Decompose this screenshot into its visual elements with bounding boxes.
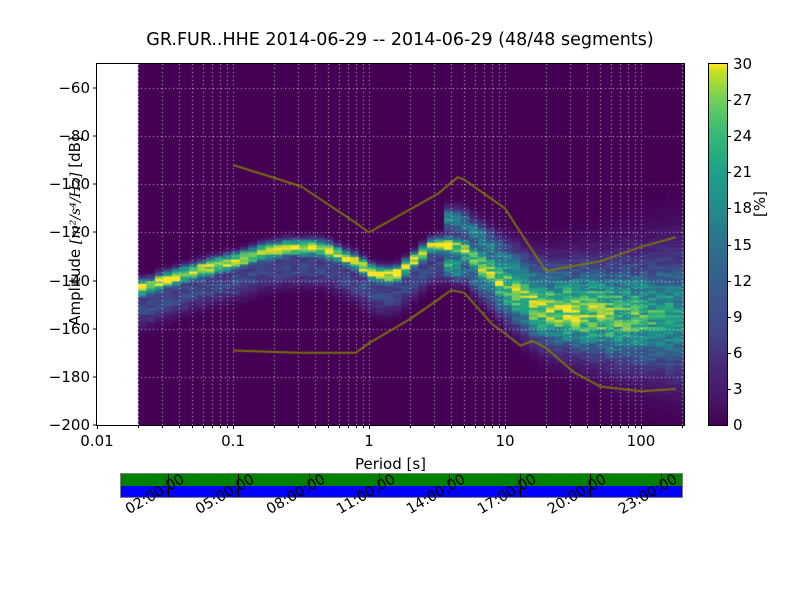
y-tick-label: −140: [49, 272, 90, 290]
y-tick-mark: [93, 88, 97, 89]
x-minor-tick-mark: [464, 425, 465, 428]
colorbar-tick-label: 6: [733, 344, 743, 362]
colorbar-tick-label: 27: [733, 91, 752, 109]
colorbar-tick-label: 0: [733, 416, 743, 434]
colorbar-tick-label: 9: [733, 308, 743, 326]
y-tick-mark: [93, 376, 97, 377]
x-minor-tick-mark: [220, 425, 221, 428]
y-tick-mark: [93, 280, 97, 281]
y-tick-mark: [93, 328, 97, 329]
x-minor-tick-mark: [475, 425, 476, 428]
colorbar-tick-mark: [727, 281, 731, 282]
x-minor-tick-mark: [328, 425, 329, 428]
page-title: GR.FUR..HHE 2014-06-29 -- 2014-06-29 (48…: [0, 30, 800, 50]
x-minor-tick-mark: [546, 425, 547, 428]
x-minor-tick-mark: [587, 425, 588, 428]
x-minor-tick-mark: [227, 425, 228, 428]
x-minor-tick-mark: [570, 425, 571, 428]
colorbar-tick-mark: [727, 100, 731, 101]
title-text: GR.FUR..HHE 2014-06-29 -- 2014-06-29 (48…: [146, 30, 653, 50]
colorbar-tick-mark: [727, 245, 731, 246]
x-minor-tick-mark: [162, 425, 163, 428]
x-minor-tick-mark: [203, 425, 204, 428]
x-minor-tick-mark: [682, 425, 683, 428]
x-minor-tick-mark: [499, 425, 500, 428]
x-minor-tick-mark: [274, 425, 275, 428]
x-tick-label: 10: [495, 432, 514, 450]
x-minor-tick-mark: [348, 425, 349, 428]
colorbar-tick-label: 3: [733, 380, 743, 398]
x-minor-tick-mark: [356, 425, 357, 428]
y-tick-mark: [93, 232, 97, 233]
x-minor-tick-mark: [492, 425, 493, 428]
y-tick-label: −120: [49, 223, 90, 241]
colorbar-tick-label: 15: [733, 236, 752, 254]
y-tick-mark: [93, 184, 97, 185]
x-tick-label: 1: [364, 432, 374, 450]
x-minor-tick-mark: [635, 425, 636, 428]
colorbar-tick-mark: [727, 389, 731, 390]
colorbar-tick-label: 24: [733, 127, 752, 145]
x-minor-tick-mark: [434, 425, 435, 428]
y-tick-label: −100: [49, 175, 90, 193]
x-tick-mark: [369, 425, 370, 429]
x-minor-tick-mark: [212, 425, 213, 428]
x-tick-mark: [505, 425, 506, 429]
ppsd-axes: Amplitude [m²/s⁴/Hz] [dB] Period [s] −60…: [96, 63, 685, 426]
y-tick-label: −60: [58, 79, 90, 97]
colorbar-tick-mark: [727, 172, 731, 173]
x-tick-mark: [233, 425, 234, 429]
x-tick-label: 0.01: [80, 432, 113, 450]
x-minor-tick-mark: [192, 425, 193, 428]
x-minor-tick-mark: [339, 425, 340, 428]
colorbar-label: [%]: [751, 164, 769, 244]
y-tick-label: −80: [58, 127, 90, 145]
x-minor-tick-mark: [600, 425, 601, 428]
colorbar-tick-mark: [727, 136, 731, 137]
x-minor-tick-mark: [315, 425, 316, 428]
x-minor-tick-mark: [484, 425, 485, 428]
colorbar-tick-label: 21: [733, 163, 752, 181]
x-tick-label: 0.1: [221, 432, 245, 450]
x-minor-tick-mark: [410, 425, 411, 428]
x-minor-tick-mark: [620, 425, 621, 428]
figure: GR.FUR..HHE 2014-06-29 -- 2014-06-29 (48…: [0, 0, 800, 600]
colorbar-tick-mark: [727, 208, 731, 209]
y-tick-label: −180: [49, 368, 90, 386]
x-minor-tick-mark: [138, 425, 139, 428]
colorbar-tick-label: 30: [733, 55, 752, 73]
colorbar-tick-mark: [727, 317, 731, 318]
x-minor-tick-mark: [451, 425, 452, 428]
x-axis-label: Period [s]: [97, 455, 684, 473]
x-minor-tick-mark: [363, 425, 364, 428]
x-tick-mark: [97, 425, 98, 429]
x-minor-tick-mark: [611, 425, 612, 428]
ppsd-heatmap: [97, 64, 684, 425]
x-minor-tick-mark: [179, 425, 180, 428]
x-tick-mark: [641, 425, 642, 429]
colorbar-tick-mark: [727, 353, 731, 354]
colorbar-tick-label: 18: [733, 199, 752, 217]
y-tick-label: −160: [49, 320, 90, 338]
x-minor-tick-mark: [298, 425, 299, 428]
colorbar: [%] 302724211815129630: [708, 63, 728, 426]
colorbar-tick-label: 12: [733, 272, 752, 290]
x-minor-tick-mark: [628, 425, 629, 428]
x-tick-label: 100: [627, 432, 656, 450]
y-tick-mark: [93, 136, 97, 137]
